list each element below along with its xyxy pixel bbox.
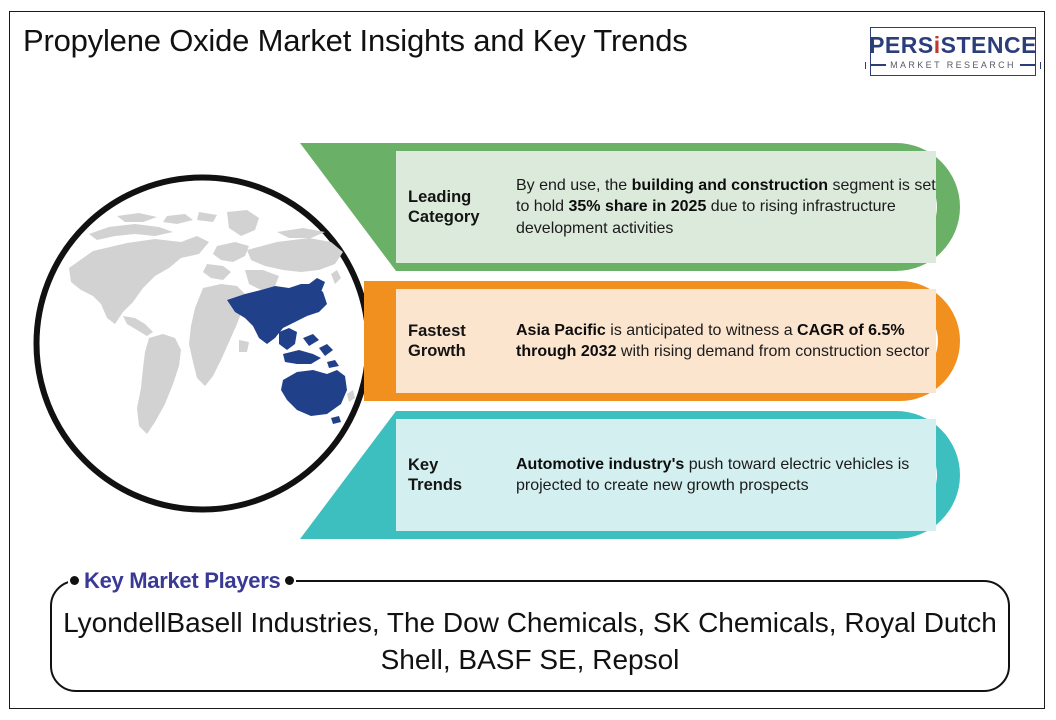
- brand-logo-wordmark: PERSiSTENCE: [869, 33, 1037, 58]
- banner-fastest-body: Asia Pacific is anticipated to witness a…: [516, 320, 936, 363]
- infographic-canvas: Propylene Oxide Market Insights and Key …: [0, 0, 1056, 720]
- banner-fastest-growth: Fastest Growth Asia Pacific is anticipat…: [364, 281, 960, 401]
- banner-leading-label: Leading Category: [408, 187, 516, 227]
- banner-leading-body: By end use, the building and constructio…: [516, 175, 936, 240]
- banner-fastest-label: Fastest Growth: [408, 321, 516, 361]
- logo-text-part1: PERS: [869, 32, 934, 58]
- banner-fastest-content: Fastest Growth Asia Pacific is anticipat…: [396, 289, 936, 393]
- brand-logo-tagline-row: MARKET RESEARCH: [865, 60, 1042, 70]
- key-market-players-heading: Key Market Players: [84, 568, 280, 594]
- logo-text-i: i: [934, 32, 941, 58]
- banner-key-trends: Key Trends Automotive industry's push to…: [300, 411, 960, 539]
- banner-leading-category: Leading Category By end use, the buildin…: [300, 143, 960, 271]
- brand-logo-tagline: MARKET RESEARCH: [890, 60, 1016, 70]
- banner-trends-body: Automotive industry's push toward electr…: [516, 454, 936, 497]
- bullet-dot-right-icon: [285, 576, 294, 585]
- key-market-players-list: LyondellBasell Industries, The Dow Chemi…: [60, 604, 1000, 678]
- banner-trends-label: Key Trends: [408, 455, 516, 495]
- logo-rule-left-icon: [870, 64, 886, 66]
- banner-trends-content: Key Trends Automotive industry's push to…: [396, 419, 936, 531]
- page-title: Propylene Oxide Market Insights and Key …: [23, 22, 813, 59]
- logo-tick-right-icon: [1040, 62, 1042, 69]
- key-market-players-heading-row: Key Market Players: [68, 569, 296, 592]
- bullet-dot-left-icon: [70, 576, 79, 585]
- logo-tick-left-icon: [865, 62, 867, 69]
- brand-logo: PERSiSTENCE MARKET RESEARCH: [870, 27, 1036, 76]
- banner-leading-content: Leading Category By end use, the buildin…: [396, 151, 936, 263]
- logo-rule-right-icon: [1020, 64, 1036, 66]
- logo-text-part2: STENCE: [941, 32, 1037, 58]
